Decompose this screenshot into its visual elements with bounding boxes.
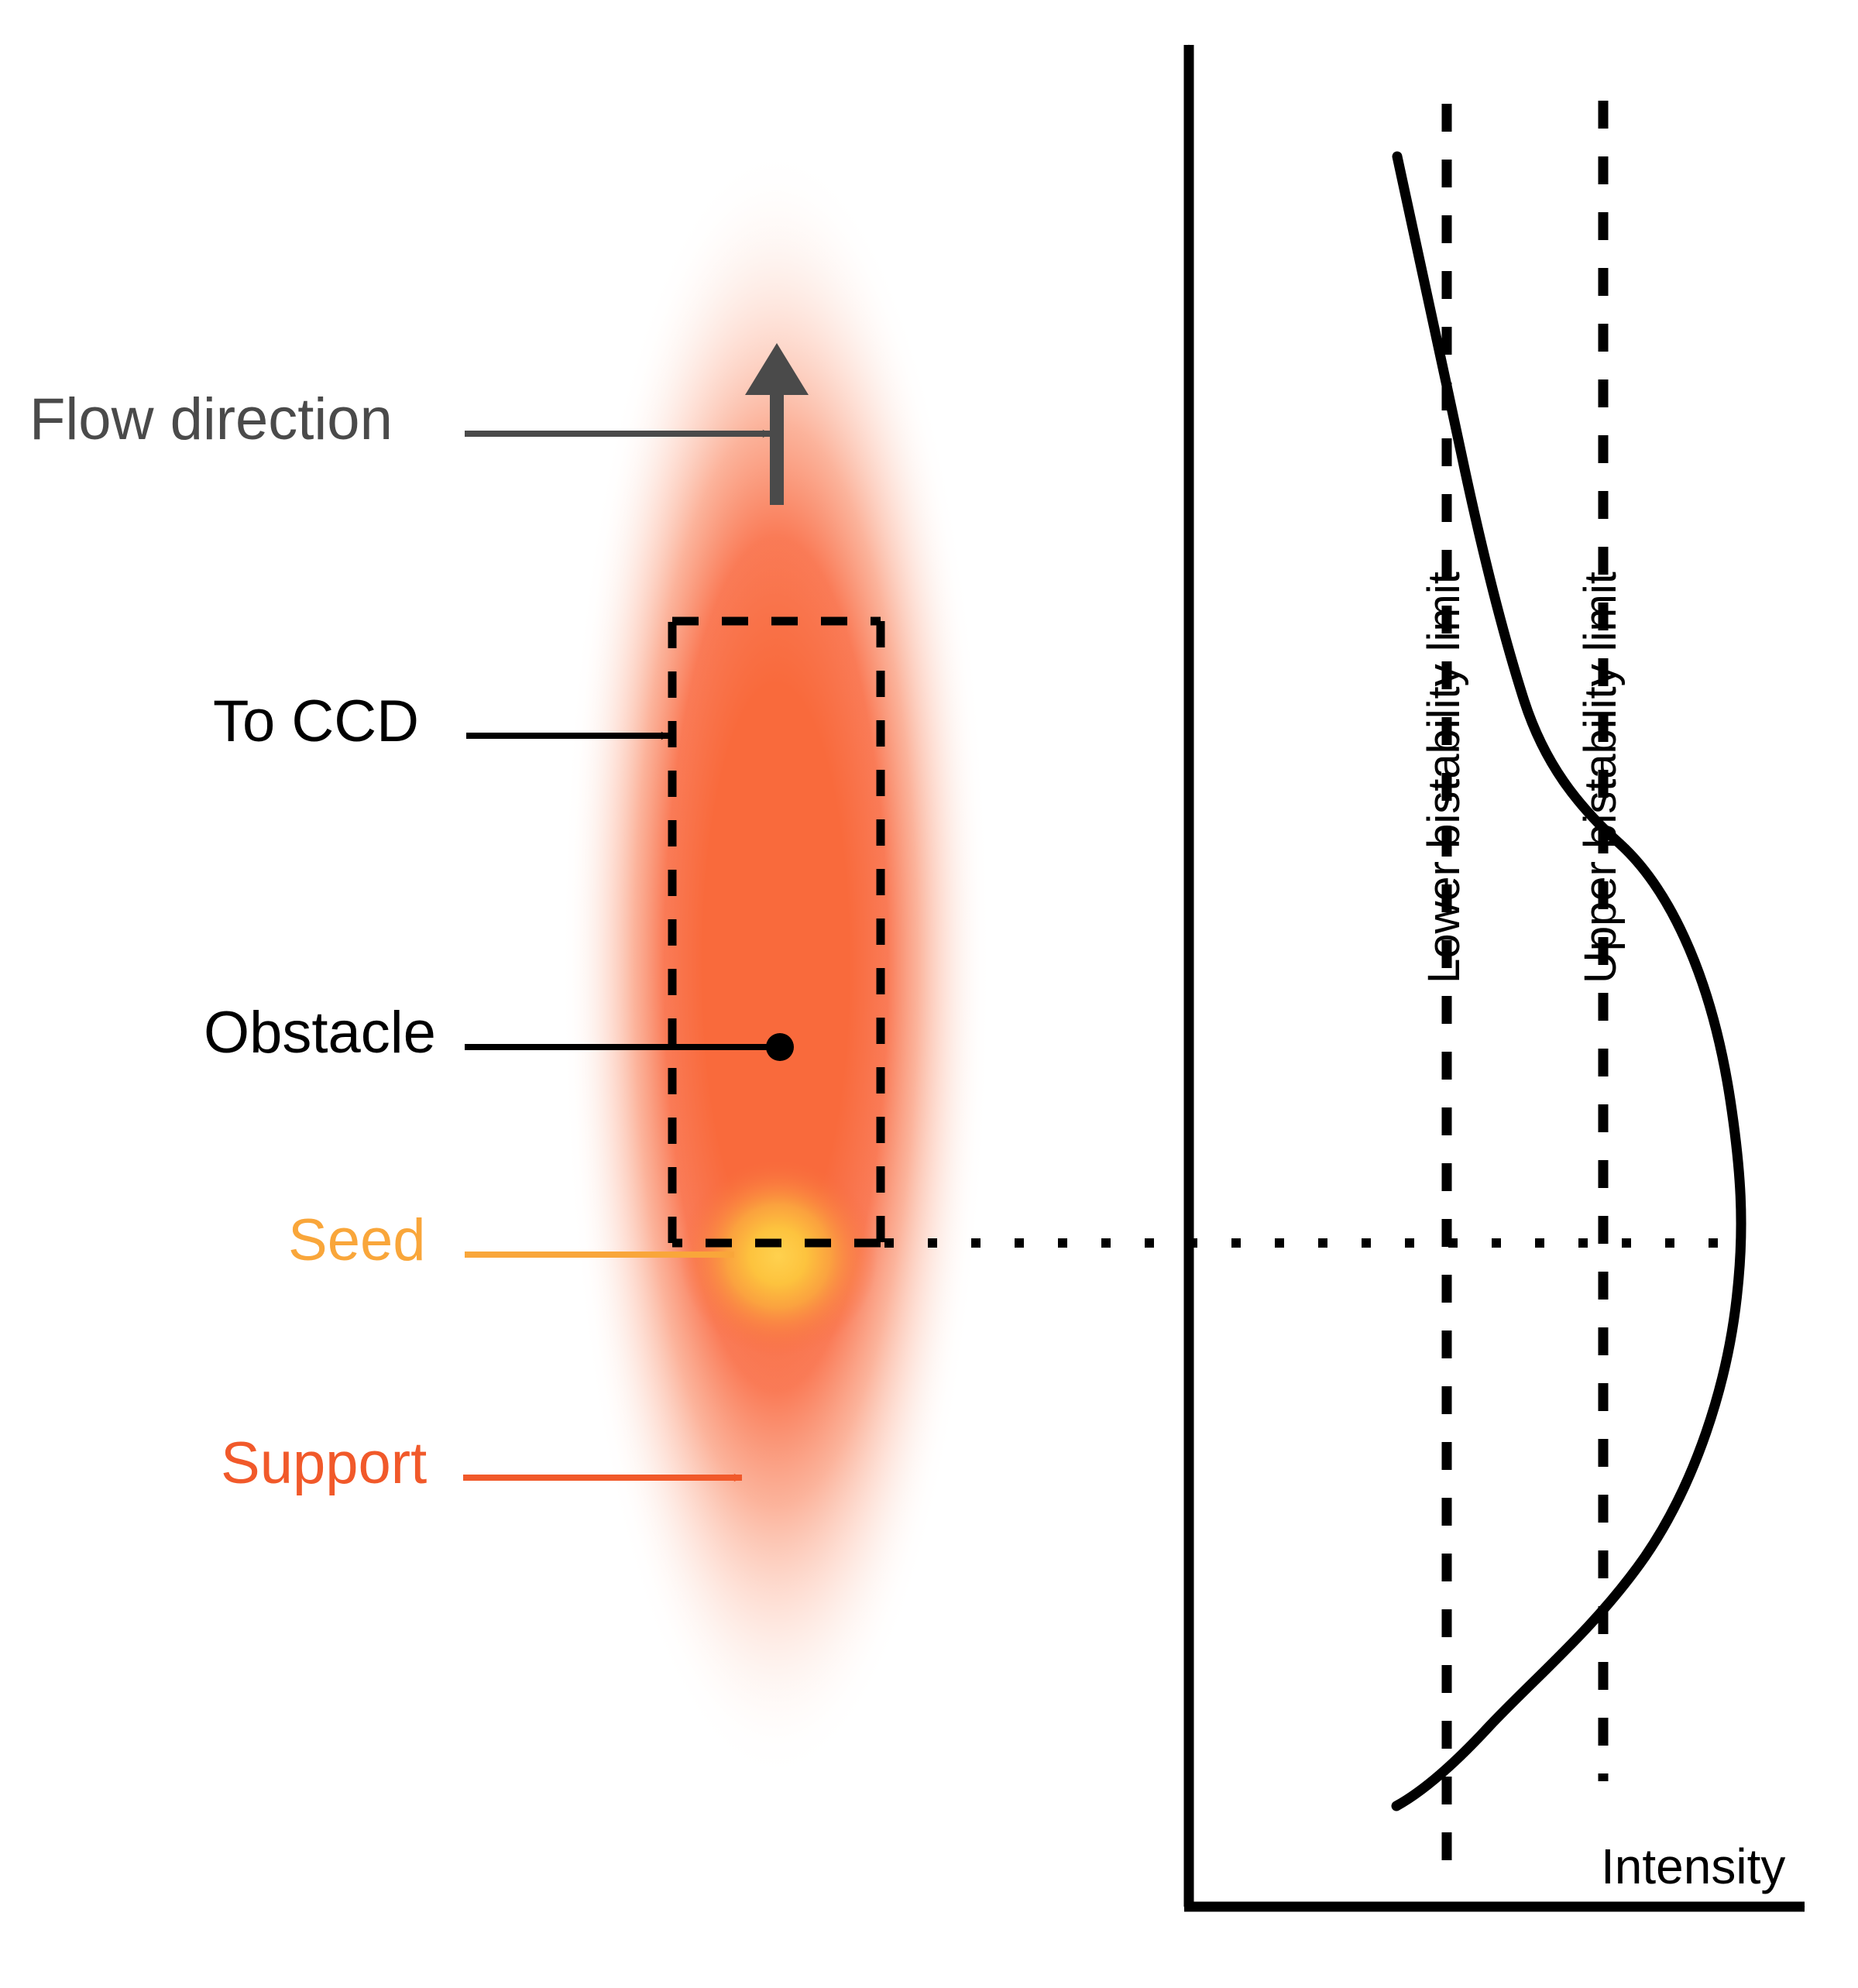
support-label: Support	[221, 1434, 427, 1493]
flow-direction-label: Flow direction	[29, 390, 393, 449]
figure-canvas: Flow direction To CCD Obstacle Seed Supp…	[0, 0, 1858, 1988]
intensity-axis-label: Intensity	[1601, 1842, 1785, 1891]
upper-bistability-limit-label: Upper bistability limit	[1578, 572, 1623, 984]
diagram-svg	[0, 0, 1858, 1988]
obstacle-label: Obstacle	[204, 1004, 436, 1063]
plot-axes	[1184, 45, 1805, 1907]
lower-bistability-limit-label: Lower bistability limit	[1422, 572, 1467, 984]
seed-label: Seed	[288, 1211, 426, 1270]
to-ccd-label: To CCD	[213, 692, 419, 751]
